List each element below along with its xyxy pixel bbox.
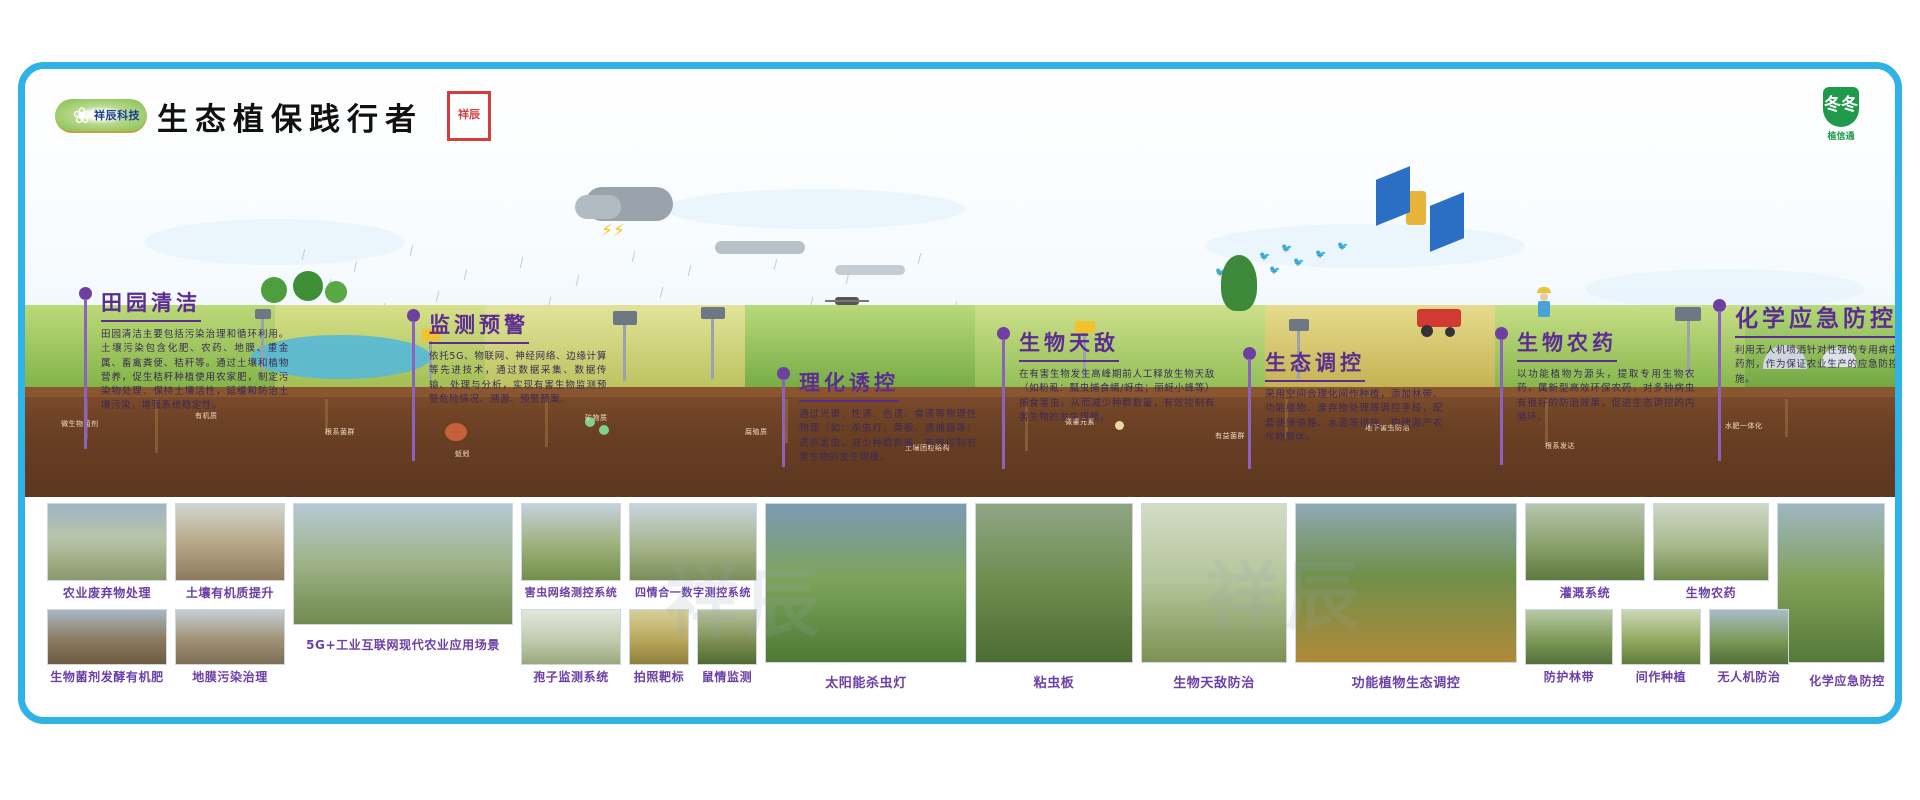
monitoring-station-photo[interactable]: [293, 503, 513, 625]
gallery-item[interactable]: 害虫网络测控系统: [521, 503, 621, 600]
gallery-item[interactable]: [1777, 503, 1885, 663]
pole-icon: [623, 323, 626, 381]
gallery-caption: 无人机防治: [1709, 668, 1789, 685]
callout-stem: [1718, 311, 1721, 461]
section-monitoring-warning[interactable]: 监测预警 依托5G、物联网、神经网络、边缘计算等先进技术，通过数据采集、数据传输…: [407, 309, 607, 407]
digital-control-photo[interactable]: [629, 503, 757, 581]
gallery-caption: 生物天敌防治: [1141, 672, 1287, 691]
illustration-scene: ❀ 祥辰科技 生态植保践行者 祥辰 冬冬 植信通 ⚡⚡: [25, 69, 1895, 497]
section-text: 利用无人机喷洒针对性强的专用病虫害药剂，作为保证农业生产的应急防控措施。: [1735, 344, 1895, 387]
corner-logo: 冬冬 植信通: [1813, 87, 1869, 142]
gallery-item[interactable]: 鼠情监测: [697, 609, 757, 685]
gallery-caption: 土壤有机质提升: [175, 584, 285, 601]
irrigation-photo[interactable]: [1525, 503, 1645, 581]
gallery-caption: 防护林带: [1525, 668, 1613, 685]
gallery-caption: 拍照靶标: [629, 668, 689, 685]
corner-logo-label: 植信通: [1813, 129, 1869, 142]
storm-cloud-icon: ⚡⚡: [585, 187, 673, 241]
gallery-item[interactable]: 无人机防治: [1709, 609, 1789, 685]
callout-stem: [1248, 359, 1251, 469]
drone-spray-photo[interactable]: [1709, 609, 1789, 665]
gallery-item[interactable]: [293, 503, 513, 625]
photo-target-photo[interactable]: [629, 609, 689, 665]
section-title: 化学应急防控: [1735, 299, 1895, 338]
soil-label: 有益菌群: [1215, 431, 1245, 441]
tractor-icon: [1417, 309, 1461, 327]
gallery-caption: 鼠情监测: [697, 668, 757, 685]
gallery-item[interactable]: 太阳能杀虫灯: [765, 669, 967, 691]
section-text: 通过光谱、性诱、色诱、食诱等物理性物理（如：杀虫灯、黄板、诱捕器等）诱杀害虫，减…: [799, 408, 977, 465]
gallery-caption: 5G+工业互联网现代农业应用场景: [293, 636, 513, 653]
section-biological-natural-enemies[interactable]: 生物天敌 在有害生物发生高峰期前人工释放生物天敌（如粉虱：瓢虫捕食螨/蚜虫；丽蚜…: [997, 327, 1215, 425]
gallery-caption: 生物菌剂发酵有机肥: [47, 668, 167, 685]
gallery-caption: 生物农药: [1653, 584, 1769, 601]
gallery-item[interactable]: 间作种植: [1621, 609, 1701, 685]
butterfly-icon: ❀: [69, 103, 95, 129]
gallery-item[interactable]: 粘虫板: [975, 669, 1133, 691]
weather-station-photo[interactable]: [521, 503, 621, 581]
section-title: 田园清洁: [101, 287, 201, 322]
gallery-item[interactable]: 农业废弃物处理: [47, 503, 167, 601]
satellite-icon: [1380, 191, 1426, 225]
callout-stem: [1002, 339, 1005, 469]
shield-icon: 冬冬: [1823, 87, 1859, 127]
gallery-item[interactable]: 化学应急防控: [1797, 669, 1897, 689]
section-ecological-regulation[interactable]: 生态调控 采用空间合理化间作种植，添加林带、功能植物、废弃物处理等调控手段，配套…: [1243, 347, 1443, 445]
section-text: 在有害生物发生高峰期前人工释放生物天敌（如粉虱：瓢虫捕食螨/蚜虫；丽蚜小蜂等）捕…: [1019, 368, 1215, 425]
soil-label: 矿物质: [585, 413, 608, 423]
section-title: 理化诱控: [799, 367, 899, 402]
gallery-item[interactable]: 5G+工业互联网现代农业应用场景: [293, 633, 513, 653]
sticky-board-photo[interactable]: [975, 503, 1133, 663]
callout-stem: [1500, 339, 1503, 465]
section-title: 生物天敌: [1019, 327, 1119, 362]
tree-icon: [325, 281, 347, 303]
tree-icon: [1221, 255, 1257, 311]
section-chemical-emergency-control[interactable]: 化学应急防控 利用无人机喷洒针对性强的专用病虫害药剂，作为保证农业生产的应急防控…: [1713, 299, 1895, 387]
drone-spray-large-photo[interactable]: [1777, 503, 1885, 663]
section-title: 生态调控: [1265, 347, 1365, 382]
gallery-caption: 功能植物生态调控: [1295, 672, 1517, 691]
gallery-item[interactable]: 生物农药: [1653, 503, 1769, 601]
functional-plants-photo[interactable]: [1295, 503, 1517, 663]
section-farmland-clean[interactable]: 田园清洁 田园清洁主要包括污染治理和循环利用。土壤污染包含化肥、农药、地膜、重金…: [79, 287, 289, 414]
section-text: 田园清洁主要包括污染治理和循环利用。土壤污染包含化肥、农药、地膜、重金属、畜禽粪…: [101, 328, 289, 414]
soil-label: 蚯蚓: [455, 449, 470, 459]
gallery-item[interactable]: 生物天敌防治: [1141, 669, 1287, 691]
poster-header: ❀ 祥辰科技 生态植保践行者 祥辰: [55, 91, 491, 141]
pesticide-bottle-photo[interactable]: [1653, 503, 1769, 581]
page-title: 生态植保践行者: [157, 94, 423, 139]
gallery-item[interactable]: 地膜污染治理: [175, 609, 285, 685]
tractor-wheel: [1421, 325, 1433, 337]
gallery-item[interactable]: 功能植物生态调控: [1295, 669, 1517, 691]
gallery-item[interactable]: 生物菌剂发酵有机肥: [47, 609, 167, 685]
soil-label: 腐殖质: [745, 427, 768, 437]
section-text: 以功能植物为源头，提取专用生物农药，属新型高效环保农药，对多种病虫有很好的防治效…: [1517, 368, 1695, 425]
brand-badge-label: 祥辰科技: [94, 107, 147, 123]
gallery-caption: 化学应急防控: [1797, 672, 1897, 689]
section-text: 依托5G、物联网、神经网络、边缘计算等先进技术，通过数据采集、数据传输、处理与分…: [429, 350, 607, 407]
gallery-item[interactable]: 防护林带: [1525, 609, 1613, 685]
natural-enemy-photo[interactable]: [1141, 503, 1287, 663]
gallery-caption: 太阳能杀虫灯: [765, 672, 967, 691]
gallery-item[interactable]: [975, 503, 1133, 663]
red-seal-stamp: 祥辰: [447, 91, 491, 141]
rodent-monitor-photo[interactable]: [697, 609, 757, 665]
solar-lamp-photo[interactable]: [765, 503, 967, 663]
spore-monitor-photo[interactable]: [521, 609, 621, 665]
intercropping-photo[interactable]: [1621, 609, 1701, 665]
field-sign-photo[interactable]: [47, 503, 167, 581]
soil-label: 水肥一体化: [1725, 421, 1763, 431]
pole-icon: [711, 317, 714, 379]
cloud-shape: [665, 189, 965, 229]
gallery-item[interactable]: 四情合一数字测控系统: [629, 503, 757, 600]
workers-field-photo[interactable]: [175, 503, 285, 581]
tractor-wheel: [1445, 327, 1455, 337]
soil-label: 根系菌群: [325, 427, 355, 437]
monitor-box-icon: [613, 311, 637, 325]
soil-label: 微生物菌剂: [61, 419, 99, 429]
camera-icon: [701, 307, 725, 319]
gallery-caption: 农业废弃物处理: [47, 584, 167, 601]
gallery-caption: 间作种植: [1621, 668, 1701, 685]
gallery-item[interactable]: 孢子监测系统: [521, 609, 621, 685]
shelterbelt-photo[interactable]: [1525, 609, 1613, 665]
section-biological-pesticide[interactable]: 生物农药 以功能植物为源头，提取专用生物农药，属新型高效环保农药，对多种病虫有很…: [1495, 327, 1695, 425]
photo-gallery: 祥辰 祥辰 农业废弃物处理 土壤有机质提升 害虫网络测控系统 四情合一数字测控系…: [25, 497, 1895, 724]
callout-stem: [412, 321, 415, 461]
gallery-item[interactable]: [1295, 503, 1517, 663]
section-title: 生物农药: [1517, 327, 1617, 362]
brand-logo: ❀ 祥辰科技: [55, 99, 147, 133]
soil-organism-icon: [445, 423, 467, 441]
gallery-item[interactable]: 土壤有机质提升: [175, 503, 285, 601]
farmer-icon: [1537, 287, 1551, 317]
callout-stem: [782, 379, 785, 467]
tree-icon: [293, 271, 323, 301]
sensor-box-icon: [1289, 319, 1309, 331]
section-title: 监测预警: [429, 309, 529, 344]
callout-stem: [84, 299, 87, 449]
gallery-item[interactable]: 拍照靶标: [629, 609, 689, 685]
gallery-caption: 地膜污染治理: [175, 668, 285, 685]
weather-station-icon: [1675, 307, 1701, 321]
gallery-caption: 害虫网络测控系统: [521, 584, 621, 600]
gallery-caption: 孢子监测系统: [521, 668, 621, 685]
root-shape: [1785, 399, 1788, 437]
gallery-item[interactable]: 灌溉系统: [1525, 503, 1645, 601]
gallery-item[interactable]: [1141, 503, 1287, 663]
section-text: 采用空间合理化间作种植，添加林带、功能植物、废弃物处理等调控手段，配套便捷道路、…: [1265, 388, 1443, 445]
gallery-caption: 粘虫板: [975, 672, 1133, 691]
compost-rows-photo[interactable]: [47, 609, 167, 665]
gallery-caption: 四情合一数字测控系统: [629, 584, 757, 600]
poster-frame: ❀ 祥辰科技 生态植保践行者 祥辰 冬冬 植信通 ⚡⚡: [18, 62, 1902, 724]
soil-organism-icon: [599, 425, 609, 435]
section-physical-chemical-trapping[interactable]: 理化诱控 通过光谱、性诱、色诱、食诱等物理性物理（如：杀虫灯、黄板、诱捕器等）诱…: [777, 367, 977, 465]
soil-label: 根系发达: [1545, 441, 1575, 451]
mulch-film-photo[interactable]: [175, 609, 285, 665]
gallery-item[interactable]: [765, 503, 967, 663]
gallery-caption: 灌溉系统: [1525, 584, 1645, 601]
